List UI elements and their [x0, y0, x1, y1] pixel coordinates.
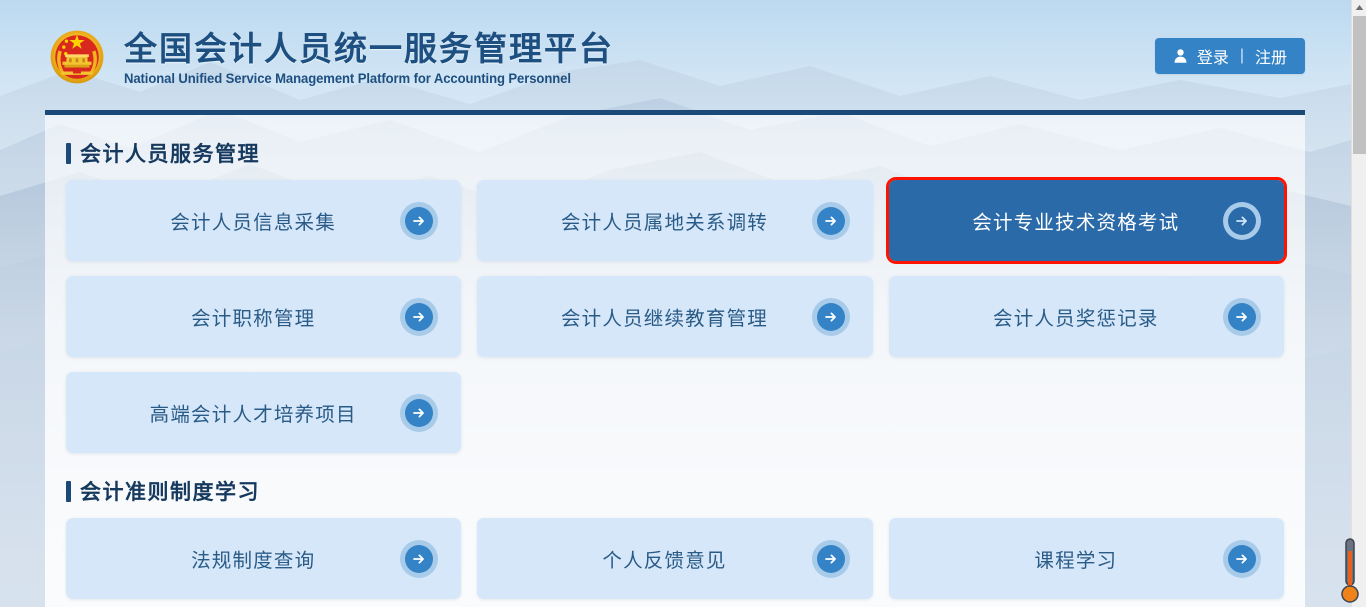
- section-title: 会计准则制度学习: [80, 476, 260, 506]
- arrow-right-circle-icon[interactable]: [400, 298, 438, 336]
- arrow-right-circle-icon[interactable]: [812, 540, 850, 578]
- site-title-en: National Unified Service Management Plat…: [124, 71, 599, 86]
- register-label[interactable]: 注册: [1255, 44, 1287, 68]
- arrow-right-circle-icon[interactable]: [1223, 540, 1261, 578]
- vertical-scrollbar[interactable]: [1351, 0, 1366, 607]
- section-heading-standards-study: 会计准则制度学习: [66, 479, 1284, 503]
- card-continuing-education[interactable]: 会计人员继续教育管理: [477, 276, 872, 357]
- site-logo: 全国会计人员统一服务管理平台 National Unified Service …: [44, 24, 614, 90]
- arrow-right-circle-icon[interactable]: [400, 540, 438, 578]
- card-professional-qualification-exam[interactable]: 会计专业技术资格考试: [889, 180, 1284, 261]
- card-label: 会计职称管理: [66, 302, 400, 331]
- login-register-button[interactable]: 登录 | 注册: [1155, 38, 1305, 74]
- national-emblem-icon: [44, 24, 110, 90]
- site-title-cn: 全国会计人员统一服务管理平台: [124, 30, 614, 68]
- arrow-right-circle-icon[interactable]: [812, 298, 850, 336]
- arrow-right-circle-icon[interactable]: [400, 394, 438, 432]
- card-label: 会计人员继续教育管理: [477, 302, 811, 331]
- card-info-collection[interactable]: 会计人员信息采集: [66, 180, 461, 261]
- site-title-block: 全国会计人员统一服务管理平台 National Unified Service …: [124, 28, 614, 86]
- card-label: 个人反馈意见: [477, 544, 811, 573]
- login-separator: |: [1238, 47, 1246, 65]
- scroll-up-arrow-button[interactable]: [1352, 0, 1366, 15]
- card-personal-feedback[interactable]: 个人反馈意见: [477, 518, 872, 599]
- section-bar-marker: [66, 481, 71, 502]
- person-icon: [1173, 48, 1188, 64]
- card-reward-punishment-record[interactable]: 会计人员奖惩记录: [889, 276, 1284, 357]
- arrow-right-circle-icon[interactable]: [1223, 202, 1261, 240]
- card-label: 法规制度查询: [66, 544, 400, 573]
- card-label: 高端会计人才培养项目: [66, 398, 400, 427]
- card-label: 会计人员奖惩记录: [889, 302, 1223, 331]
- grid-placeholder: [889, 372, 1284, 453]
- arrow-right-circle-icon[interactable]: [400, 202, 438, 240]
- card-grid-section-2: 法规制度查询 个人反馈意见 课程学习: [66, 518, 1284, 599]
- section-heading-accounting-personnel-service: 会计人员服务管理: [66, 141, 1284, 165]
- arrow-right-circle-icon[interactable]: [812, 202, 850, 240]
- card-title-management[interactable]: 会计职称管理: [66, 276, 461, 357]
- content-panel: 会计人员服务管理 会计人员信息采集 会计人员属地关系调转 会计专业技术资格考试 …: [45, 110, 1305, 607]
- login-label[interactable]: 登录: [1197, 44, 1229, 68]
- section-bar-marker: [66, 143, 71, 164]
- card-label: 课程学习: [889, 544, 1223, 573]
- card-regulation-query[interactable]: 法规制度查询: [66, 518, 461, 599]
- section-title: 会计人员服务管理: [80, 138, 260, 168]
- card-course-study[interactable]: 课程学习: [889, 518, 1284, 599]
- card-high-end-talent-program[interactable]: 高端会计人才培养项目: [66, 372, 461, 453]
- card-label: 会计人员属地关系调转: [477, 206, 811, 235]
- scrollbar-thumb[interactable]: [1353, 16, 1366, 154]
- card-label: 会计人员信息采集: [66, 206, 400, 235]
- card-grid-section-1: 会计人员信息采集 会计人员属地关系调转 会计专业技术资格考试 会计职称管理 会计…: [66, 180, 1284, 453]
- site-header: 全国会计人员统一服务管理平台 National Unified Service …: [0, 0, 1351, 110]
- arrow-right-circle-icon[interactable]: [1223, 298, 1261, 336]
- grid-placeholder: [477, 372, 872, 453]
- card-label: 会计专业技术资格考试: [889, 206, 1223, 235]
- card-locality-transfer[interactable]: 会计人员属地关系调转: [477, 180, 872, 261]
